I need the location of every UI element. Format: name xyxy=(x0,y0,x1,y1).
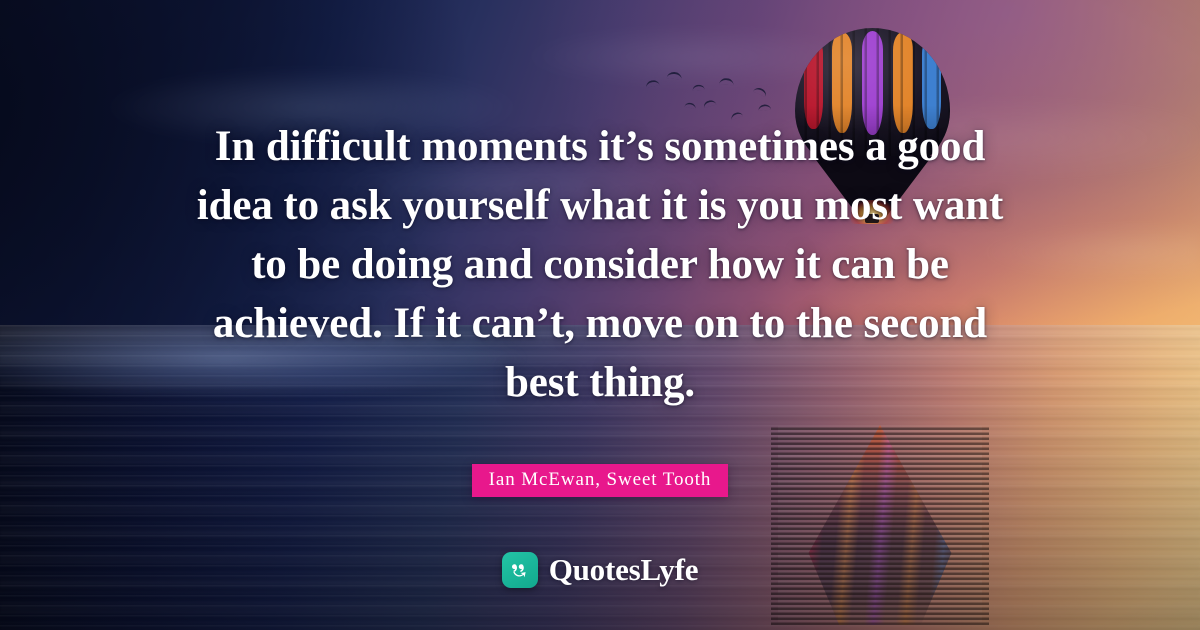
bird-icon xyxy=(758,104,771,111)
quote-line: to be doing and consider how it can be xyxy=(72,236,1128,295)
bird-icon xyxy=(753,86,768,97)
quote-card: In difficult moments it’s sometimes a go… xyxy=(0,0,1200,630)
bird-icon xyxy=(692,84,704,90)
bird-icon xyxy=(645,79,659,88)
bird-icon xyxy=(667,71,683,80)
quote-line: idea to ask yourself what it is you most… xyxy=(72,177,1128,236)
brand-name: QuotesLyfe xyxy=(549,552,699,588)
bird-icon xyxy=(719,78,734,85)
quote-line: achieved. If it can’t, move on to the se… xyxy=(72,295,1128,354)
bird-icon xyxy=(684,102,696,109)
quote-line: In difficult moments it’s sometimes a go… xyxy=(72,118,1128,177)
brand-logo[interactable]: QuotesLyfe xyxy=(0,552,1200,588)
quote-smiley-icon xyxy=(502,552,538,588)
quote-line: best thing. xyxy=(72,354,1128,413)
quote-text: In difficult moments it’s sometimes a go… xyxy=(0,118,1200,413)
attribution-container: Ian McEwan, Sweet Tooth xyxy=(0,464,1200,497)
bird-icon xyxy=(703,99,717,108)
attribution-badge[interactable]: Ian McEwan, Sweet Tooth xyxy=(472,464,729,497)
